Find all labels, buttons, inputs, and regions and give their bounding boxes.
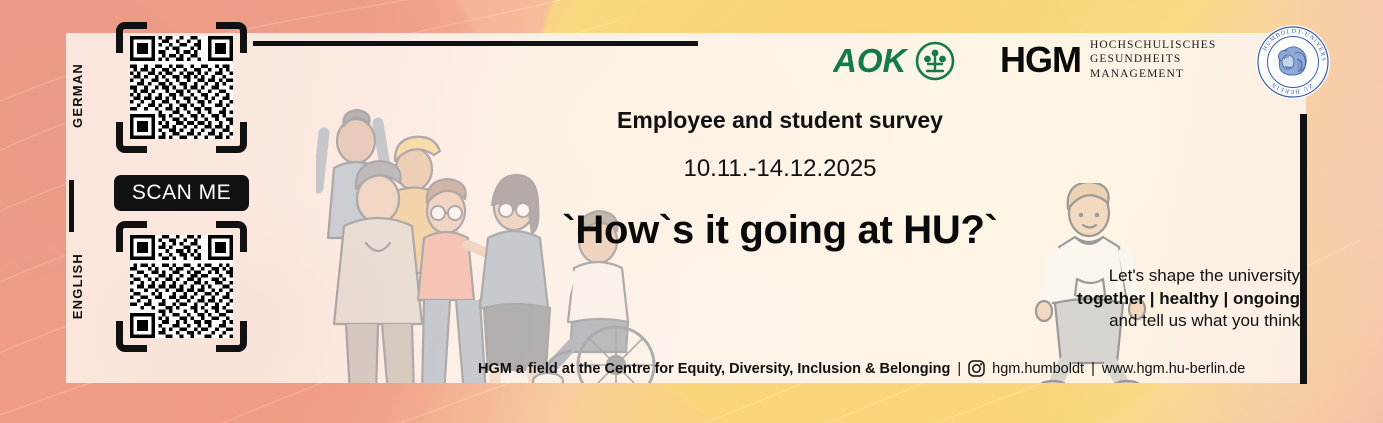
- claim-line-3: and tell us what you think: [1000, 310, 1300, 333]
- claim-line-1: Let's shape the university: [1000, 265, 1300, 288]
- instagram-icon[interactable]: [968, 360, 985, 377]
- footer-instagram-handle[interactable]: hgm.humboldt: [992, 361, 1084, 377]
- qr-language-label-english: ENGLISH: [70, 253, 85, 319]
- survey-date-range: 10.11.-14.12.2025: [530, 155, 1030, 183]
- qr-code-german-image[interactable]: [130, 36, 233, 139]
- hgm-wordmark: HGM: [1000, 42, 1081, 78]
- seal-portrait-icon: [1278, 47, 1306, 75]
- survey-banner: GERMAN ENGLISH: [0, 0, 1383, 423]
- aok-logo: AOK: [833, 38, 958, 84]
- claim-block: Let's shape the university together | he…: [1000, 265, 1300, 333]
- hgm-subtitle-line2: GESUNDHEITS: [1090, 52, 1216, 66]
- footer-separator-1: |: [957, 361, 961, 377]
- qr-panel: GERMAN ENGLISH: [30, 5, 245, 345]
- hgm-subtitle: HOCHSCHULISCHES GESUNDHEITS MANAGEMENT: [1090, 38, 1216, 81]
- survey-subtitle: Employee and student survey: [530, 107, 1030, 134]
- footer-separator-2: |: [1091, 361, 1095, 377]
- hgm-subtitle-line3: MANAGEMENT: [1090, 67, 1216, 81]
- qr-language-label-german: GERMAN: [70, 63, 85, 128]
- hgm-subtitle-line1: HOCHSCHULISCHES: [1090, 38, 1216, 52]
- accent-rule-right: [1300, 114, 1307, 384]
- qr-code-english-image[interactable]: [130, 235, 233, 338]
- qr-code-english[interactable]: [116, 221, 247, 352]
- footer-bar: HGM a field at the Centre for Equity, Di…: [478, 360, 1245, 377]
- hgm-logo: HGM HOCHSCHULISCHES GESUNDHEITS MANAGEME…: [1000, 38, 1216, 81]
- claim-line-2: together | healthy | ongoing: [1000, 288, 1300, 311]
- aok-wordmark: AOK: [833, 42, 909, 79]
- qr-code-german[interactable]: [116, 22, 247, 153]
- humboldt-university-seal-logo: HUMBOLDT-UNIVERSITÄT ZU BERLIN: [1255, 24, 1331, 100]
- aok-tree-emblem-icon: [917, 43, 953, 79]
- scan-me-label: SCAN ME: [132, 181, 231, 205]
- accent-rule-top: [253, 41, 698, 46]
- scan-me-button[interactable]: SCAN ME: [114, 175, 249, 211]
- accent-rule-left: [69, 180, 74, 232]
- footer-org: HGM a field at the Centre for Equity, Di…: [478, 361, 950, 377]
- survey-headline: `How`s it going at HU?`: [500, 208, 1060, 253]
- footer-website[interactable]: www.hgm.hu-berlin.de: [1102, 361, 1245, 377]
